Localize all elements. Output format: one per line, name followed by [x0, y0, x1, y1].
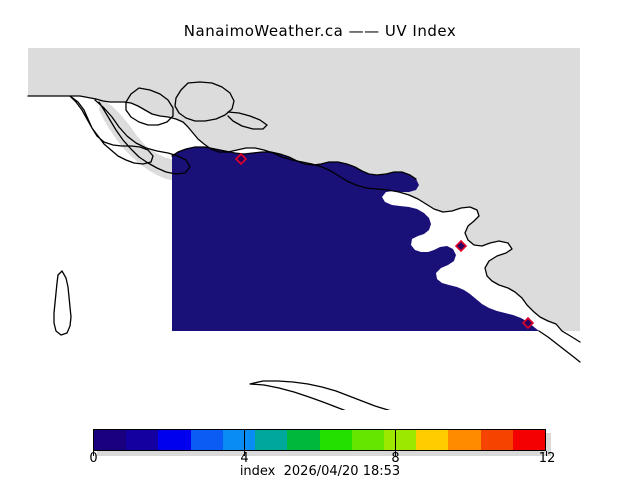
colorbar-segment-5	[255, 430, 287, 450]
colorbar-caption: index 2026/04/20 18:53	[0, 464, 640, 479]
colorbar-tick-4	[244, 429, 245, 451]
colorbar-segment-13	[513, 430, 545, 450]
colorbar-shadow	[97, 451, 550, 456]
colorbar-segment-0	[94, 430, 126, 450]
map-canvas	[0, 40, 640, 410]
page-title: NanaimoWeather.ca —— UV Index	[0, 22, 640, 40]
colorbar-tick-8	[395, 429, 396, 451]
colorbar-segment-2	[158, 430, 190, 450]
colorbar	[93, 429, 546, 451]
colorbar-segment-3	[191, 430, 223, 450]
uv-index-map-page: NanaimoWeather.ca —— UV Index	[0, 0, 640, 480]
colorbar-gradient	[93, 429, 546, 451]
colorbar-segment-8	[352, 430, 384, 450]
colorbar-segment-9	[384, 430, 416, 450]
map-plot-area	[0, 40, 640, 410]
colorbar-segment-6	[287, 430, 319, 450]
colorbar-segment-7	[320, 430, 352, 450]
colorbar-segment-10	[416, 430, 448, 450]
colorbar-segment-1	[126, 430, 158, 450]
colorbar-segment-11	[448, 430, 480, 450]
colorbar-segment-12	[481, 430, 513, 450]
colorbar-segment-4	[223, 430, 255, 450]
